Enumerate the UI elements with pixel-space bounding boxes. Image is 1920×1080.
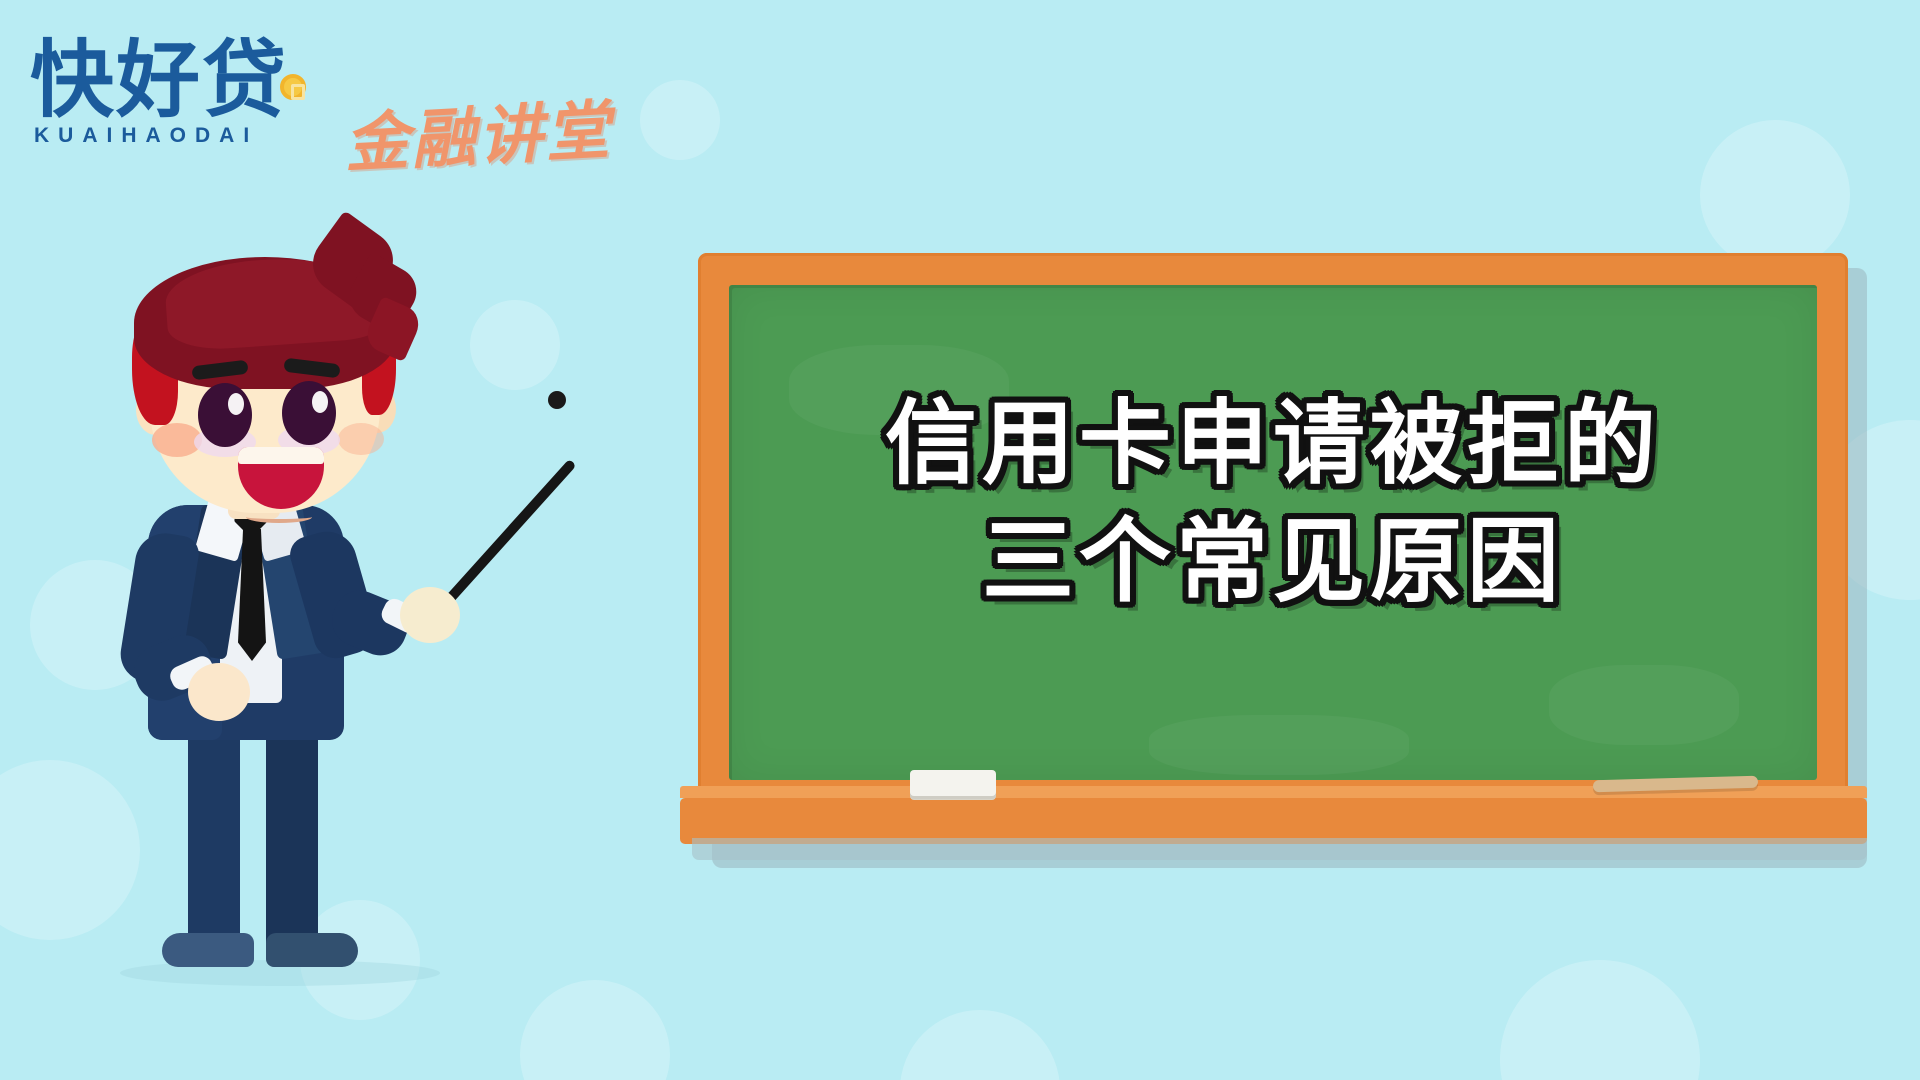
teacher-character [70, 185, 590, 975]
character-shoe-left [162, 933, 254, 967]
character-eye-left [198, 383, 252, 447]
blackboard-title: 信用卡申请被拒的 三个常见原因 [729, 385, 1817, 621]
brand-name-cn: 快好贷 [30, 34, 288, 126]
title-line-1: 信用卡申请被拒的 [729, 385, 1817, 503]
chalk-smudge [1149, 715, 1409, 775]
character-eye-highlight-left [228, 393, 244, 415]
chalk-smudge [1549, 665, 1739, 745]
character-lower-lip [246, 511, 312, 523]
character-necktie [238, 529, 266, 661]
character-cheek-right [338, 423, 384, 455]
brand-tagline: 金融讲堂 [342, 79, 614, 185]
pointer-stick-tip [548, 391, 566, 409]
character-teeth [238, 447, 324, 464]
gold-coin-icon [280, 74, 306, 100]
brand-name-pinyin: KUAIHAODAI [34, 124, 258, 148]
background-blob [1700, 120, 1850, 270]
character-leg-right [266, 705, 318, 955]
character-shoe-right [266, 933, 358, 967]
blackboard-ledge-shadow [692, 838, 1867, 860]
blackboard-surface: 信用卡申请被拒的 三个常见原因 [729, 285, 1817, 780]
blackboard: 信用卡申请被拒的 三个常见原因 [698, 253, 1848, 838]
background-blob [640, 80, 720, 160]
character-hand-right [400, 587, 460, 643]
background-blob [900, 1010, 1060, 1080]
background-blob [520, 980, 670, 1080]
character-hand-left [188, 663, 250, 721]
slide-canvas: 快好贷 KUAIHAODAI 金融讲堂 信用卡申请被拒的 三个常见原因 [0, 0, 1920, 1080]
eraser-icon[interactable] [910, 770, 996, 796]
background-blob [1500, 960, 1700, 1080]
brand-logo: 快好贷 KUAIHAODAI 金融讲堂 [22, 34, 642, 154]
character-leg-left [188, 705, 240, 955]
title-line-2: 三个常见原因 [729, 503, 1817, 621]
character-eye-highlight-right [312, 391, 328, 413]
character-eye-right [282, 381, 336, 445]
